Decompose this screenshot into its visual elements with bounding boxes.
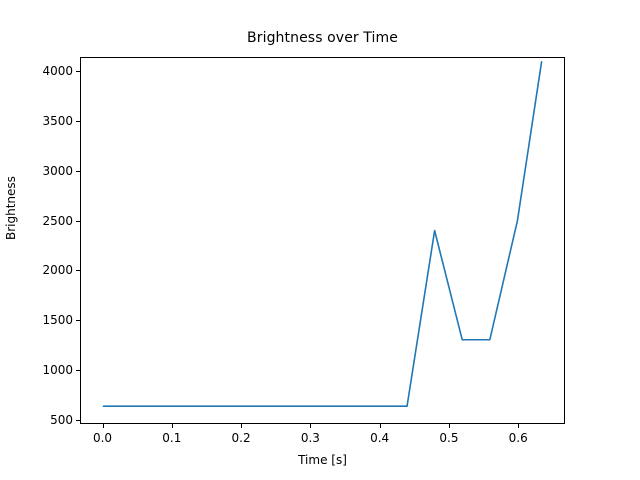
x-axis-tick-label: 0.0 [93, 431, 112, 445]
x-axis-tick-label: 0.4 [370, 431, 389, 445]
x-axis-tick-mark [103, 424, 104, 428]
y-axis-tick-label: 500 [20, 413, 73, 427]
data-line-chart [81, 58, 564, 423]
x-axis-tick-mark [172, 424, 173, 428]
y-axis-tick-label: 4000 [20, 64, 73, 78]
chart-figure: Brightness over Time Brightness Time [s]… [0, 0, 640, 480]
plot-area [80, 57, 565, 424]
brightness-line-series [103, 62, 541, 406]
x-axis-label: Time [s] [80, 453, 565, 467]
x-axis-tick-mark [518, 424, 519, 428]
page-title: Brightness over Time [80, 30, 565, 46]
y-axis-tick-label: 2500 [20, 214, 73, 228]
x-axis-tick-label: 0.6 [509, 431, 528, 445]
y-axis-tick-label: 2000 [20, 263, 73, 277]
x-axis-tick-mark [449, 424, 450, 428]
y-axis-tick-label: 3500 [20, 114, 73, 128]
x-axis-tick-label: 0.1 [162, 431, 181, 445]
x-axis-tick-mark [380, 424, 381, 428]
x-axis-tick-label: 0.5 [439, 431, 458, 445]
y-axis-tick-label: 3000 [20, 164, 73, 178]
y-axis-tick-label: 1500 [20, 313, 73, 327]
y-axis-label: Brightness [4, 176, 18, 240]
x-axis-tick-label: 0.2 [232, 431, 251, 445]
x-axis-tick-mark [241, 424, 242, 428]
y-axis-tick-label: 1000 [20, 363, 73, 377]
x-axis-tick-label: 0.3 [301, 431, 320, 445]
x-axis-tick-mark [310, 424, 311, 428]
